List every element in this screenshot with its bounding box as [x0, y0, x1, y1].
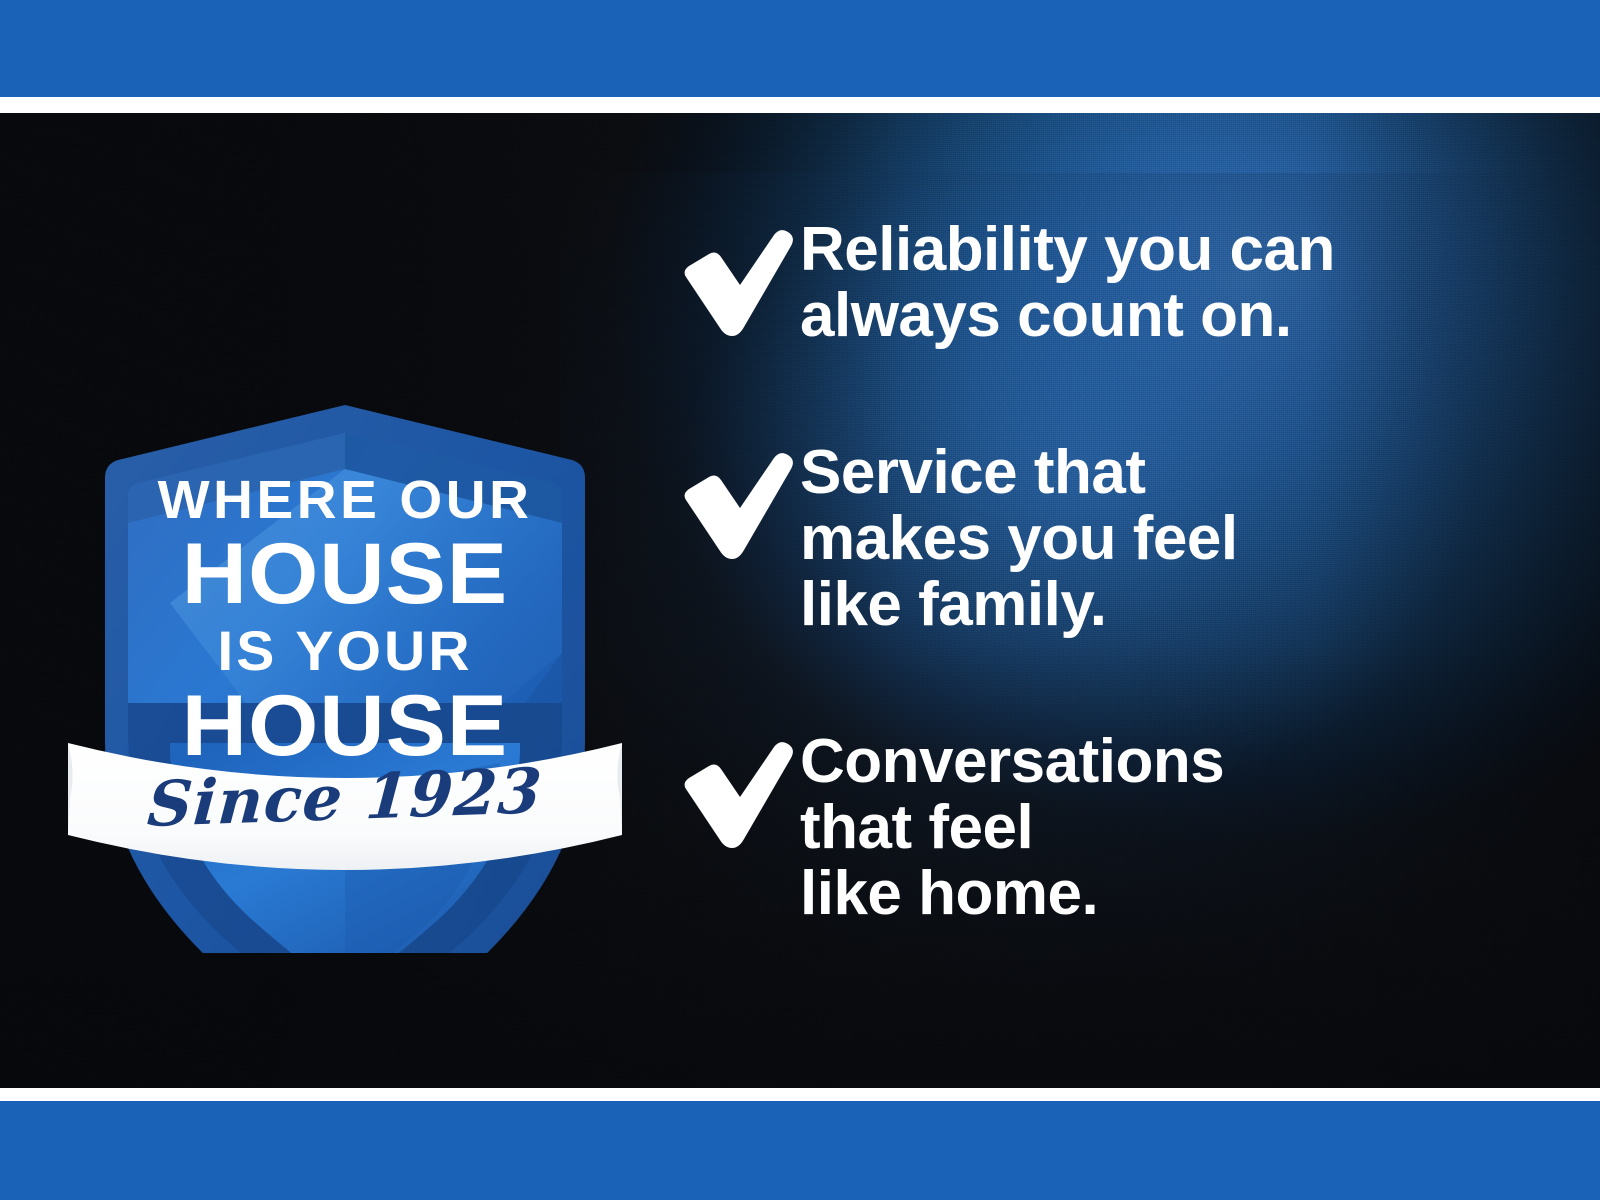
list-item: Reliability you can always count on. [668, 213, 1548, 350]
promotional-graphic: WHERE OUR HOUSE IS YOUR HOUSE Since 1923… [0, 0, 1600, 1200]
benefits-list: Reliability you can always count on. Ser… [668, 213, 1548, 928]
list-item: Conversations that feel like home. [668, 725, 1548, 928]
list-item: Service that makes you feel like family. [668, 436, 1548, 639]
list-item-label: Reliability you can always count on. [800, 213, 1335, 350]
checkmark-icon [668, 444, 800, 562]
list-item-label: Service that makes you feel like family. [800, 436, 1238, 639]
bottom-brand-bar [0, 1101, 1600, 1200]
company-shield-logo: WHERE OUR HOUSE IS YOUR HOUSE Since 1923 [60, 273, 630, 953]
top-brand-bar [0, 0, 1600, 97]
checkmark-icon [668, 733, 800, 851]
main-content-panel: WHERE OUR HOUSE IS YOUR HOUSE Since 1923… [0, 113, 1600, 1088]
list-item-label: Conversations that feel like home. [800, 725, 1224, 928]
shield-graphic [60, 273, 630, 953]
checkmark-icon [668, 221, 800, 339]
